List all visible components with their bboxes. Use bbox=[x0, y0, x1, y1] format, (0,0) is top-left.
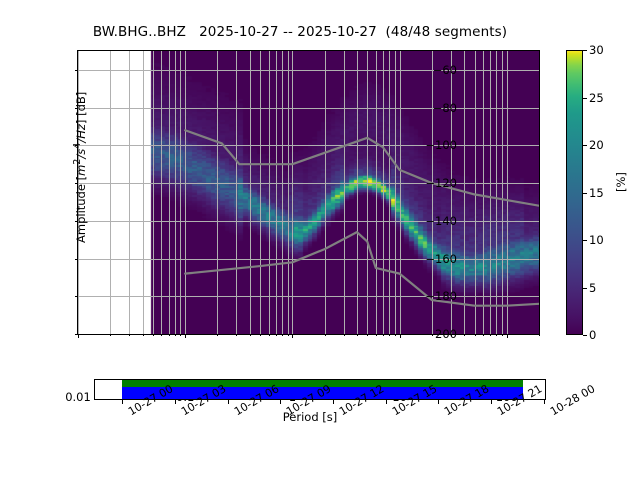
colorbar-tick bbox=[583, 288, 587, 289]
x-tick bbox=[269, 334, 270, 336]
noise-model-nlnm bbox=[185, 232, 539, 306]
y-tick-label: −120 bbox=[425, 176, 457, 190]
x-tick bbox=[282, 334, 283, 336]
x-tick bbox=[250, 334, 251, 336]
colorbar-tick-label: 30 bbox=[589, 43, 604, 57]
x-tick bbox=[357, 334, 358, 336]
y-tick-label: −160 bbox=[425, 252, 457, 266]
coverage-tick-label: 10-27 00 bbox=[126, 407, 133, 418]
ppsd-figure: BW.BHG..BHZ 2025-10-27 -- 2025-10-27 (48… bbox=[0, 0, 640, 480]
colorbar-tick bbox=[583, 240, 587, 241]
coverage-tick bbox=[386, 400, 387, 404]
x-tick bbox=[143, 334, 144, 336]
x-tick bbox=[185, 334, 186, 338]
y-tick-label: −180 bbox=[425, 289, 457, 303]
colorbar-tick-label: 10 bbox=[589, 233, 604, 247]
x-tick bbox=[276, 334, 277, 336]
coverage-tick-label: 10-27 03 bbox=[179, 407, 186, 418]
noise-model-curves bbox=[78, 51, 539, 334]
noise-model-nhnm bbox=[185, 130, 539, 205]
x-tick bbox=[217, 334, 218, 336]
coverage-tick-label: 10-27 18 bbox=[442, 407, 449, 418]
x-tick bbox=[110, 334, 111, 336]
x-tick bbox=[400, 334, 401, 338]
y-tick bbox=[75, 70, 79, 71]
x-tick bbox=[376, 334, 377, 336]
x-tick bbox=[451, 334, 452, 336]
coverage-tick-label: 10-28 00 bbox=[548, 407, 555, 418]
x-tick bbox=[464, 334, 465, 336]
colorbar-tick bbox=[583, 98, 587, 99]
x-tick bbox=[153, 334, 154, 336]
ppsd-axes[interactable]: −60−80−100−120−140−160−180−2000.010.1110… bbox=[77, 50, 540, 335]
coverage-tick-label: 10-27 12 bbox=[337, 407, 344, 418]
y-tick-label: −140 bbox=[425, 214, 457, 228]
x-tick bbox=[389, 334, 390, 336]
x-tick bbox=[502, 334, 503, 336]
colorbar bbox=[566, 50, 583, 335]
x-tick bbox=[161, 334, 162, 336]
y-tick bbox=[75, 296, 79, 297]
x-tick bbox=[432, 334, 433, 336]
colorbar-tick-label: 5 bbox=[589, 281, 596, 295]
y-tick-label: −80 bbox=[433, 101, 457, 115]
x-tick bbox=[490, 334, 491, 336]
coverage-tick bbox=[333, 400, 334, 404]
x-tick bbox=[175, 334, 176, 336]
coverage-tick bbox=[544, 400, 545, 404]
x-tick bbox=[129, 334, 130, 336]
x-tick bbox=[395, 334, 396, 336]
coverage-tick-label: 10-27 06 bbox=[232, 407, 239, 418]
coverage-tick bbox=[438, 400, 439, 404]
x-tick bbox=[292, 334, 293, 338]
coverage-tick bbox=[491, 400, 492, 404]
x-tick bbox=[78, 334, 79, 338]
x-tick-label: 0.01 bbox=[65, 390, 91, 404]
x-tick bbox=[383, 334, 384, 336]
colorbar-title: [%] bbox=[614, 172, 628, 192]
colorbar-tick bbox=[583, 335, 587, 336]
colorbar-tick bbox=[583, 193, 587, 194]
x-tick bbox=[539, 334, 540, 336]
y-tick-label: −60 bbox=[433, 63, 457, 77]
coverage-tick bbox=[122, 400, 123, 404]
x-tick bbox=[180, 334, 181, 336]
x-tick bbox=[475, 334, 476, 336]
x-tick bbox=[260, 334, 261, 336]
x-tick bbox=[507, 334, 508, 338]
y-axis-title: Amplitude [m2/s4/Hz] [dB] bbox=[72, 92, 88, 243]
coverage-tick-label: 10-27 15 bbox=[390, 407, 397, 418]
x-tick bbox=[236, 334, 237, 336]
colorbar-tick-label: 25 bbox=[589, 91, 604, 105]
x-tick bbox=[169, 334, 170, 336]
x-tick bbox=[344, 334, 345, 336]
x-tick bbox=[325, 334, 326, 336]
x-tick bbox=[483, 334, 484, 336]
y-tick-label: −100 bbox=[425, 138, 457, 152]
y-tick-label: −200 bbox=[425, 327, 457, 341]
y-tick bbox=[75, 259, 79, 260]
colorbar-tick bbox=[583, 145, 587, 146]
coverage-tick bbox=[280, 400, 281, 404]
colorbar-tick bbox=[583, 50, 587, 51]
colorbar-tick-label: 0 bbox=[589, 328, 596, 342]
figure-title: BW.BHG..BHZ 2025-10-27 -- 2025-10-27 (48… bbox=[0, 24, 600, 40]
x-tick bbox=[367, 334, 368, 336]
x-tick bbox=[288, 334, 289, 336]
coverage-tick bbox=[228, 400, 229, 404]
ppsd-plot-area bbox=[78, 51, 539, 334]
coverage-tick bbox=[175, 400, 176, 404]
colorbar-tick-label: 20 bbox=[589, 138, 604, 152]
colorbar-tick-label: 15 bbox=[589, 186, 604, 200]
coverage-tick-label: 10-27 21 bbox=[495, 407, 502, 418]
x-tick bbox=[496, 334, 497, 336]
